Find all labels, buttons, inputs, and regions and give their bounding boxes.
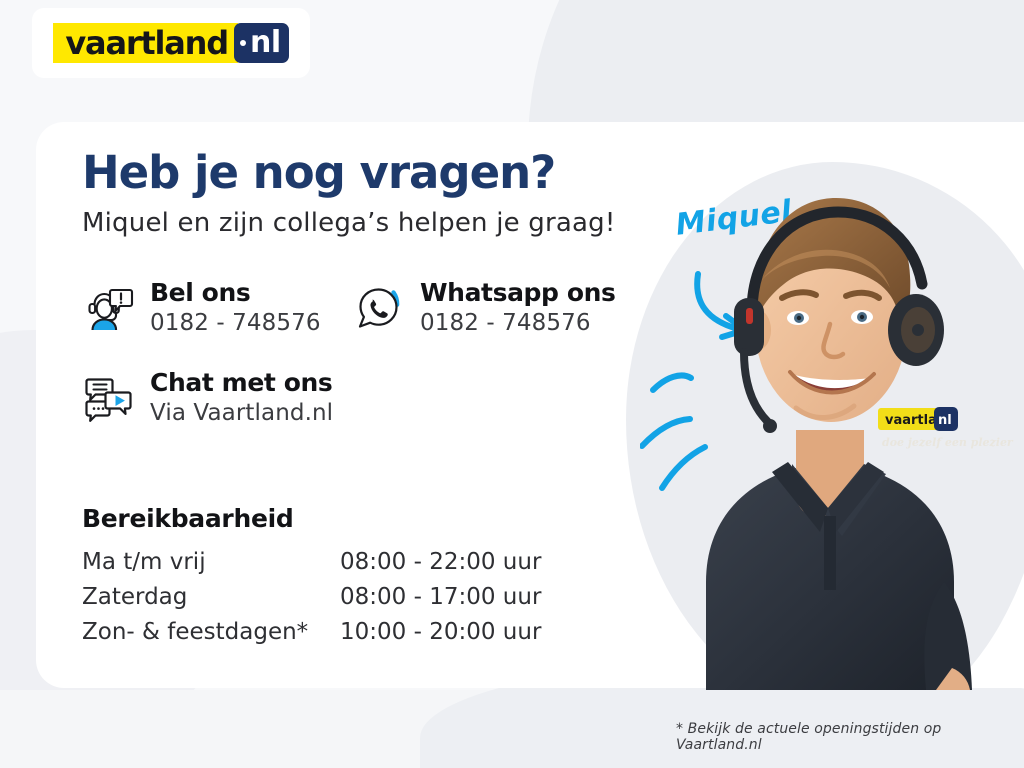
availability-day: Ma t/m vrij [82, 550, 340, 574]
contact-whatsapp-number: 0182 - 748576 [420, 311, 616, 335]
footnote: * Bekijk de actuele openingstijden op Va… [676, 721, 1024, 753]
availability-time: 08:00 - 17:00 uur [340, 585, 541, 609]
contact-call[interactable]: Bel ons 0182 - 748576 [82, 280, 321, 336]
logo-tld: nl [250, 28, 281, 58]
brand-logo[interactable]: vaartland nl [32, 8, 310, 78]
availability-time: 08:00 - 22:00 uur [340, 550, 541, 574]
chat-bubbles-icon [82, 372, 136, 426]
logo-dot-icon [240, 40, 246, 46]
svg-text:doe jezelf een plezier: doe jezelf een plezier [882, 436, 1014, 449]
logo-yellow-block: vaartland [53, 23, 238, 63]
svg-text:nl: nl [938, 413, 952, 428]
contact-whatsapp-text: Whatsapp ons 0182 - 748576 [420, 280, 616, 335]
contact-call-title: Bel ons [150, 280, 321, 306]
poster-stage: vaartland nl Heb je nog vragen? Miquel e… [0, 0, 1024, 768]
contact-whatsapp-title: Whatsapp ons [420, 280, 616, 306]
availability-title: Bereikbaarheid [82, 504, 541, 533]
contact-chat[interactable]: Chat met ons Via Vaartland.nl [82, 370, 333, 426]
table-row: Ma t/m vrij 08:00 - 22:00 uur [82, 550, 541, 574]
availability-block: Bereikbaarheid Ma t/m vrij 08:00 - 22:00… [82, 504, 541, 655]
logo-lockup: vaartland nl [53, 23, 288, 63]
contact-whatsapp[interactable]: Whatsapp ons 0182 - 748576 [352, 280, 616, 336]
contact-chat-title: Chat met ons [150, 370, 333, 396]
whatsapp-icon [352, 282, 406, 336]
table-row: Zaterdag 08:00 - 17:00 uur [82, 585, 541, 609]
table-row: Zon- & feestdagen* 10:00 - 20:00 uur [82, 620, 541, 644]
availability-day: Zaterdag [82, 585, 340, 609]
contact-chat-text: Chat met ons Via Vaartland.nl [150, 370, 333, 425]
availability-day: Zon- & feestdagen* [82, 620, 340, 644]
agent-photo: vaartland nl doe jezelf een plezier [700, 112, 1024, 690]
logo-wordmark: vaartland [65, 27, 228, 59]
contact-call-number: 0182 - 748576 [150, 311, 321, 335]
contact-call-text: Bel ons 0182 - 748576 [150, 280, 321, 335]
availability-time: 10:00 - 20:00 uur [340, 620, 541, 644]
page-title: Heb je nog vragen? [82, 150, 555, 195]
contact-chat-source: Via Vaartland.nl [150, 401, 333, 425]
headset-agent-icon [82, 282, 136, 336]
page-subtitle: Miquel en zijn collega’s helpen je graag… [82, 210, 615, 236]
logo-navy-block: nl [234, 23, 289, 63]
